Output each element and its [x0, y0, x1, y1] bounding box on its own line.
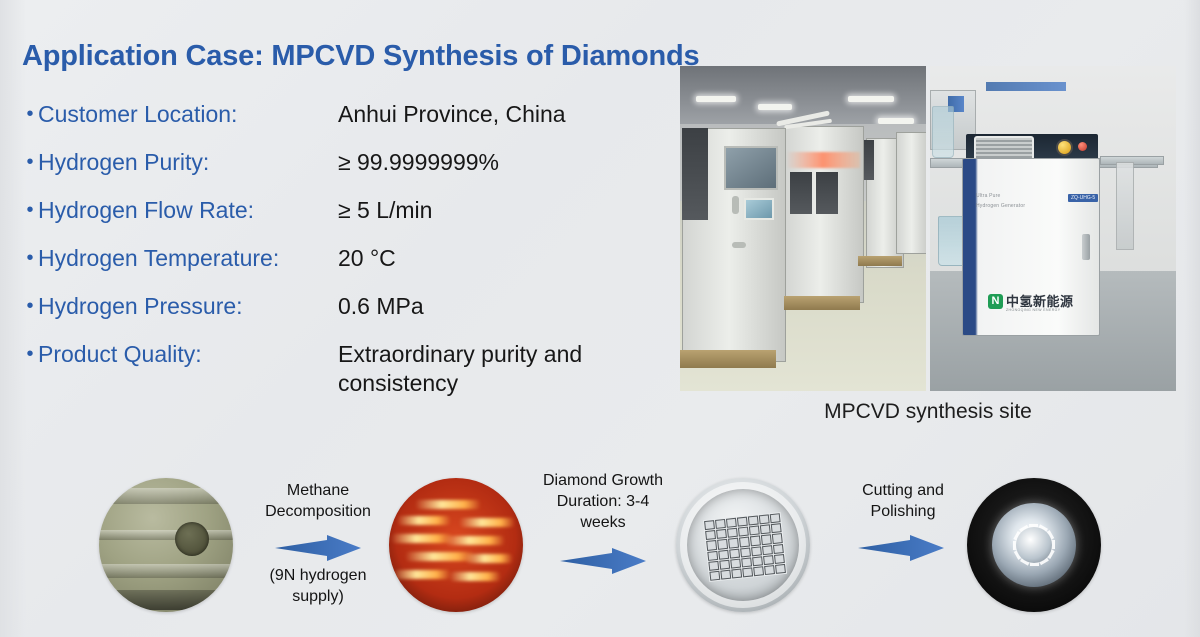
- transition-label-line2: Polishing: [820, 501, 986, 522]
- transition-sublabel-hydrogen-supply: (9N hydrogen supply): [240, 565, 396, 607]
- plasma-growth-image: [389, 478, 523, 612]
- spec-label-hydrogen-pressure: Hydrogen Pressure:: [38, 292, 338, 320]
- mpcvd-chamber-image: [99, 478, 233, 612]
- specification-list: • Customer Location: Anhui Province, Chi…: [22, 100, 672, 417]
- photo-group: Ultra Pure Hydrogen Generator ZQ-UHG-5 N…: [680, 66, 1176, 391]
- emergency-stop-button[interactable]: [1056, 139, 1073, 156]
- bullet-icon: •: [22, 340, 38, 367]
- transition-label-line3: weeks: [520, 512, 686, 533]
- brand-name-en: ZHONGQING NEW ENERGY: [1006, 308, 1060, 312]
- bullet-icon: •: [22, 244, 38, 271]
- list-item: • Hydrogen Flow Rate: ≥ 5 L/min: [22, 196, 672, 225]
- photo-caption: MPCVD synthesis site: [680, 400, 1176, 424]
- spec-value-customer-location: Anhui Province, China: [338, 100, 672, 129]
- diamond-gem: [992, 503, 1076, 587]
- spec-label-product-quality: Product Quality:: [38, 340, 338, 368]
- spec-label-hydrogen-temperature: Hydrogen Temperature:: [38, 244, 338, 272]
- generator-label-line1: Ultra Pure: [976, 192, 1001, 200]
- generator-door-handle[interactable]: [1082, 234, 1090, 260]
- ceiling-lamp: [758, 104, 792, 110]
- slide-canvas: Application Case: MPCVD Synthesis of Dia…: [0, 0, 1200, 637]
- spec-label-hydrogen-flow-rate: Hydrogen Flow Rate:: [38, 196, 338, 224]
- spec-value-hydrogen-pressure: 0.6 MPa: [338, 292, 672, 321]
- reactor-viewport: [816, 172, 838, 214]
- generator-label-line2: Hydrogen Generator: [976, 202, 1025, 210]
- spec-label-hydrogen-purity: Hydrogen Purity:: [38, 148, 338, 176]
- reactor-viewport: [790, 172, 812, 214]
- process-flow: Methane Decomposition (9N hydrogen suppl…: [0, 466, 1200, 637]
- seed-plate-array-image: [676, 478, 810, 612]
- transition-label-methane-decomposition: Methane Decomposition: [240, 480, 396, 522]
- glass-vessel: [932, 106, 954, 158]
- spec-label-customer-location: Customer Location:: [38, 100, 338, 128]
- transition-label-line1: Cutting and: [820, 480, 986, 501]
- floor-pallet: [784, 296, 860, 310]
- bullet-icon: •: [22, 100, 38, 127]
- mpcvd-reactor-row-photo: [680, 66, 926, 391]
- reactor-display-screen: [724, 146, 778, 190]
- cabinet-handle: [732, 196, 739, 214]
- diamond-plate-grid: [703, 512, 787, 582]
- ceiling-lamp: [696, 96, 736, 102]
- transition-label-cutting-polishing: Cutting and Polishing: [820, 480, 986, 522]
- transition-label-line1: Diamond Growth: [520, 470, 686, 491]
- generator-model-badge: ZQ-UHG-5: [1068, 194, 1098, 202]
- reactor-cabinet: [896, 132, 926, 254]
- transition-label-diamond-growth: Diamond Growth Duration: 3-4 weeks: [520, 470, 686, 533]
- cabinet-latch: [732, 242, 746, 248]
- spec-value-hydrogen-purity: ≥ 99.9999999%: [338, 148, 672, 177]
- diamond-table-facet: [1016, 527, 1052, 563]
- page-title: Application Case: MPCVD Synthesis of Dia…: [22, 40, 699, 73]
- list-item: • Hydrogen Temperature: 20 °C: [22, 244, 672, 273]
- plasma-glow: [786, 152, 860, 168]
- bullet-icon: •: [22, 148, 38, 175]
- bullet-icon: •: [22, 196, 38, 223]
- list-item: • Hydrogen Purity: ≥ 99.9999999%: [22, 148, 672, 177]
- transition-label-line1: Methane: [240, 480, 396, 501]
- floor-pallet: [858, 256, 902, 266]
- hydrogen-generator-photo: Ultra Pure Hydrogen Generator ZQ-UHG-5 N…: [930, 66, 1176, 391]
- hmi-touch-panel: [744, 198, 774, 220]
- background-column: [1116, 162, 1134, 250]
- transition-sublabel-line2: supply): [240, 586, 396, 607]
- spec-value-hydrogen-flow-rate: ≥ 5 L/min: [338, 196, 672, 225]
- floor-pallet: [680, 350, 776, 368]
- transition-label-line2: Duration: 3-4: [520, 491, 686, 512]
- list-item: • Hydrogen Pressure: 0.6 MPa: [22, 292, 672, 321]
- brand-name-cn: 中氢新能源: [1006, 295, 1074, 308]
- brand-mark-icon: N: [988, 294, 1003, 309]
- arrow-right-icon-3: [858, 535, 944, 561]
- arrow-right-icon-2: [560, 548, 646, 574]
- cabinet-side-panel: [682, 128, 708, 220]
- spec-value-product-quality: Extraordinary purity and consistency: [338, 340, 633, 398]
- spec-value-hydrogen-temperature: 20 °C: [338, 244, 672, 273]
- wall-sign: [986, 82, 1066, 91]
- transition-label-line2: Decomposition: [240, 501, 396, 522]
- list-item: • Customer Location: Anhui Province, Chi…: [22, 100, 672, 129]
- polished-diamond-image: [967, 478, 1101, 612]
- transition-sublabel-line1: (9N hydrogen: [240, 565, 396, 586]
- brand-logo: N 中氢新能源 ZHONGQING NEW ENERGY: [988, 294, 1074, 309]
- list-item: • Product Quality: Extraordinary purity …: [22, 340, 672, 398]
- arrow-right-icon-1: [275, 535, 361, 561]
- chamber-port: [175, 522, 209, 556]
- ceiling-lamp: [848, 96, 894, 102]
- power-indicator-light: [1078, 142, 1087, 151]
- bullet-icon: •: [22, 292, 38, 319]
